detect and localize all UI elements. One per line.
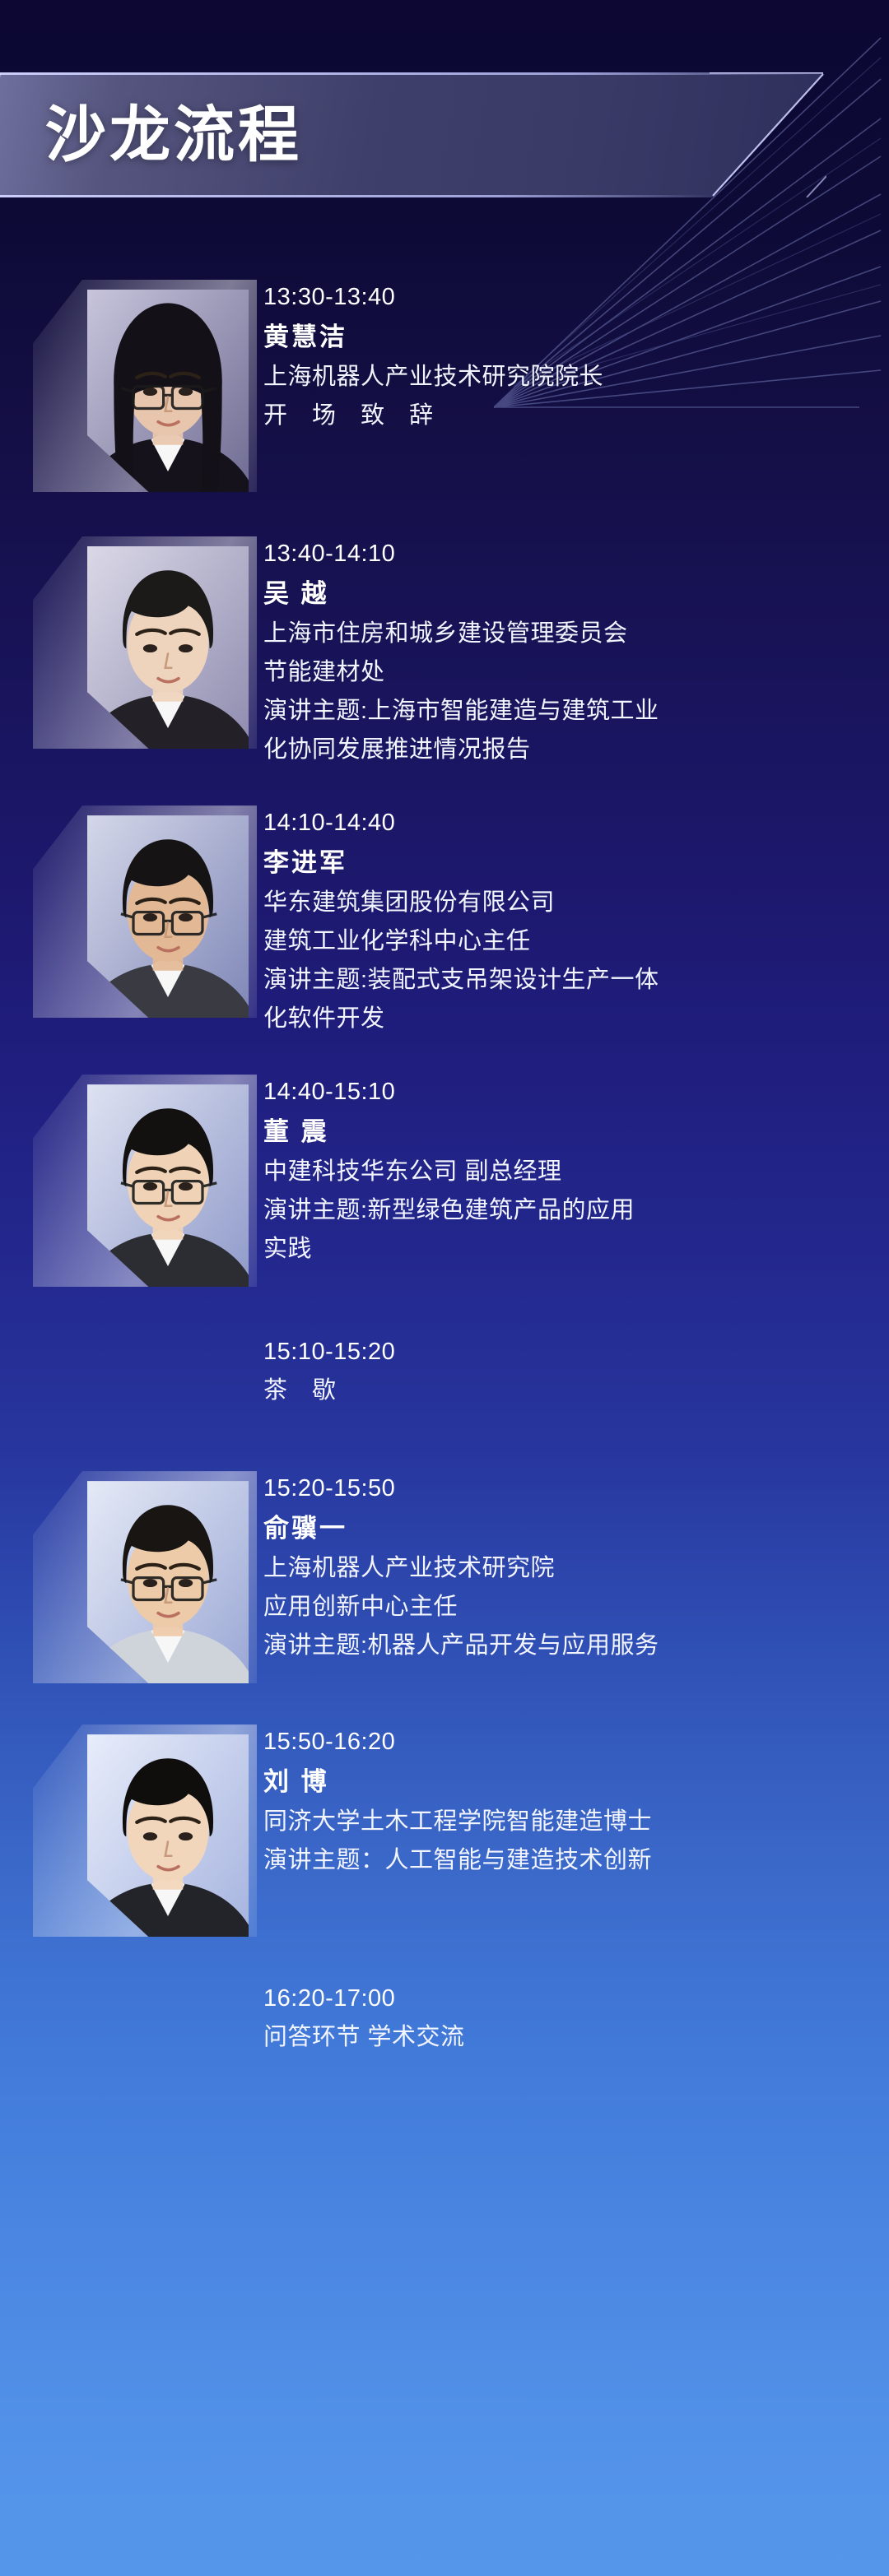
- agenda-time: 15:20-15:50: [263, 1469, 869, 1508]
- speaker-name: 董 震: [263, 1112, 869, 1153]
- banner-top-rule: [0, 72, 823, 75]
- page-title: 沙龙流程: [45, 104, 302, 165]
- agenda-entry-text: 15:20-15:50俞骥一上海机器人产业技术研究院应用创新中心主任演讲主题:机…: [263, 1463, 889, 1665]
- agenda-list: 13:30-13:40黄慧洁上海机器人产业技术研究院院长开 场 致 辞 13:4…: [0, 272, 889, 2057]
- agenda-time: 15:10-15:20: [263, 1333, 869, 1372]
- agenda-entry-text: 13:40-14:10吴 越上海市住房和城乡建设管理委员会节能建材处演讲主题:上…: [263, 528, 889, 769]
- agenda-detail-line: 上海机器人产业技术研究院: [263, 1549, 869, 1588]
- agenda-entry-text: 15:50-16:20刘 博同济大学土木工程学院智能建造博士演讲主题：人工智能与…: [263, 1716, 889, 1880]
- agenda-detail-line: 节能建材处: [263, 653, 869, 692]
- agenda-portrait-slot: [0, 1716, 263, 1952]
- agenda-portrait-slot: [0, 528, 263, 764]
- agenda-time: 14:40-15:10: [263, 1073, 869, 1112]
- agenda-time: 16:20-17:00: [263, 1980, 869, 2018]
- agenda-time: 14:10-14:40: [263, 804, 869, 842]
- agenda-row: 15:20-15:50俞骥一上海机器人产业技术研究院应用创新中心主任演讲主题:机…: [0, 1463, 889, 1698]
- speaker-name: 黄慧洁: [263, 317, 869, 358]
- agenda-detail-line: 实践: [263, 1230, 869, 1269]
- agenda-portrait-slot: [0, 272, 263, 507]
- agenda-portrait-slot: [0, 1066, 263, 1302]
- speaker-name: 俞骥一: [263, 1508, 869, 1549]
- salon-agenda-poster: 沙龙流程: [0, 0, 889, 2576]
- agenda-detail-line: 华东建筑集团股份有限公司: [263, 884, 869, 922]
- agenda-time: 15:50-16:20: [263, 1723, 869, 1761]
- agenda-detail-line-spaced: 开 场 致 辞: [263, 397, 869, 435]
- speaker-name: 吴 越: [263, 573, 869, 615]
- agenda-detail-line-spaced: 茶 歇: [263, 1372, 869, 1410]
- agenda-portrait-slot: [0, 1463, 263, 1698]
- agenda-row: 13:40-14:10吴 越上海市住房和城乡建设管理委员会节能建材处演讲主题:上…: [0, 528, 889, 769]
- agenda-detail-line: 上海市住房和城乡建设管理委员会: [263, 615, 869, 653]
- speaker-name: 李进军: [263, 842, 869, 884]
- page-title-banner: 沙龙流程: [0, 72, 823, 197]
- agenda-detail-line: 问答环节 学术交流: [263, 2018, 869, 2057]
- agenda-portrait-slot: [0, 797, 263, 1033]
- agenda-row: 16:20-17:00问答环节 学术交流: [0, 1973, 889, 2057]
- agenda-row: 14:40-15:10董 震中建科技华东公司 副总经理演讲主题:新型绿色建筑产品…: [0, 1066, 889, 1302]
- agenda-detail-line: 建筑工业化学科中心主任: [263, 922, 869, 961]
- agenda-row: 15:50-16:20刘 博同济大学土木工程学院智能建造博士演讲主题：人工智能与…: [0, 1716, 889, 1952]
- agenda-detail-line: 演讲主题:新型绿色建筑产品的应用: [263, 1191, 869, 1230]
- agenda-time: 13:40-14:10: [263, 535, 869, 573]
- agenda-portrait-slot: [0, 1973, 263, 1974]
- agenda-detail-line: 演讲主题:机器人产品开发与应用服务: [263, 1627, 869, 1665]
- agenda-entry-text: 14:40-15:10董 震中建科技华东公司 副总经理演讲主题:新型绿色建筑产品…: [263, 1066, 889, 1269]
- banner-bottom-rule: [0, 195, 713, 197]
- agenda-detail-line: 化协同发展推进情况报告: [263, 731, 869, 769]
- agenda-entry-text: 15:10-15:20茶 歇: [263, 1326, 889, 1410]
- agenda-detail-line: 应用创新中心主任: [263, 1588, 869, 1627]
- agenda-row: 15:10-15:20茶 歇: [0, 1326, 889, 1410]
- agenda-time: 13:30-13:40: [263, 278, 869, 317]
- agenda-entry-text: 13:30-13:40黄慧洁上海机器人产业技术研究院院长开 场 致 辞: [263, 272, 889, 435]
- agenda-portrait-slot: [0, 1326, 263, 1327]
- agenda-detail-line: 上海机器人产业技术研究院院长: [263, 358, 869, 397]
- agenda-row: 14:10-14:40李进军华东建筑集团股份有限公司建筑工业化学科中心主任演讲主…: [0, 797, 889, 1038]
- agenda-detail-line: 演讲主题：人工智能与建造技术创新: [263, 1841, 869, 1880]
- agenda-detail-line: 中建科技华东公司 副总经理: [263, 1153, 869, 1191]
- agenda-row: 13:30-13:40黄慧洁上海机器人产业技术研究院院长开 场 致 辞: [0, 272, 889, 507]
- speaker-name: 刘 博: [263, 1761, 869, 1803]
- agenda-entry-text: 14:10-14:40李进军华东建筑集团股份有限公司建筑工业化学科中心主任演讲主…: [263, 797, 889, 1038]
- agenda-detail-line: 演讲主题:装配式支吊架设计生产一体: [263, 961, 869, 1000]
- agenda-detail-line: 化软件开发: [263, 1000, 869, 1038]
- agenda-detail-line: 演讲主题:上海市智能建造与建筑工业: [263, 692, 869, 731]
- agenda-entry-text: 16:20-17:00问答环节 学术交流: [263, 1973, 889, 2057]
- agenda-detail-line: 同济大学土木工程学院智能建造博士: [263, 1803, 869, 1841]
